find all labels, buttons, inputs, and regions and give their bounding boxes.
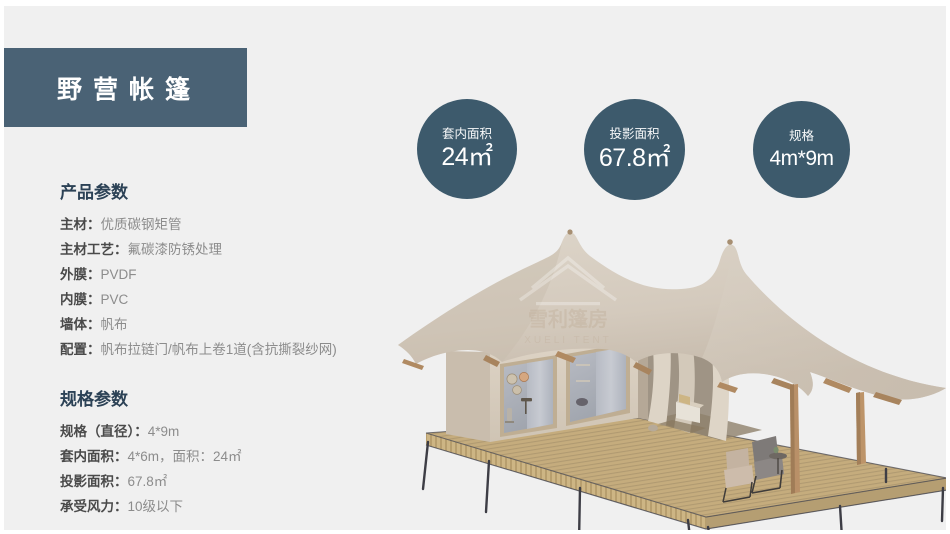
spec-row: 外膜：PVDF bbox=[60, 262, 337, 287]
spec-value: 帆布 bbox=[101, 317, 128, 332]
section-heading: 规格参数 bbox=[60, 385, 242, 410]
tent-product-image: 雪利篷房 XUELI TENT bbox=[390, 212, 946, 530]
spec-value: PVDF bbox=[101, 267, 137, 282]
spec-row: 内膜：PVC bbox=[60, 287, 337, 312]
spec-label: 墙体： bbox=[60, 317, 101, 332]
spec-row: 承受风力：10级以下 bbox=[60, 494, 242, 519]
badge-label: 套内面积 bbox=[442, 128, 492, 141]
canopy-shade-right bbox=[702, 246, 946, 400]
tent-illustration: 雪利篷房 XUELI TENT bbox=[390, 212, 946, 530]
spec-value: 4*6m，面积：24㎡ bbox=[128, 449, 242, 464]
badge-label: 规格 bbox=[789, 130, 814, 143]
spec-label: 承受风力： bbox=[60, 499, 128, 514]
spec-row: 主材工艺：氟碳漆防锈处理 bbox=[60, 237, 337, 262]
spec-label: 配置： bbox=[60, 342, 101, 357]
title-banner: 野营帐篷 bbox=[4, 48, 247, 127]
badge-value: 4m*9m bbox=[769, 148, 833, 169]
watermark-en: XUELI TENT bbox=[524, 335, 612, 346]
decor-stone bbox=[648, 425, 658, 432]
spec-row: 墙体：帆布 bbox=[60, 312, 337, 337]
canopy-peak-right bbox=[727, 239, 733, 245]
spec-row: 规格（直径）：4*9m bbox=[60, 419, 242, 444]
badge-value: 24㎡ bbox=[441, 145, 492, 170]
spec-value: PVC bbox=[101, 292, 129, 307]
slide-canvas: 野营帐篷 套内面积 24㎡ 投影面积 67.8㎡ 规格 4m*9m 产品参数 主… bbox=[4, 6, 946, 530]
spec-label: 投影面积： bbox=[60, 474, 128, 489]
spec-row: 套内面积：4*6m，面积：24㎡ bbox=[60, 444, 242, 469]
page-title: 野营帐篷 bbox=[46, 70, 201, 106]
spec-label: 主材： bbox=[60, 217, 101, 232]
spec-label: 外膜： bbox=[60, 267, 101, 282]
spec-value: 4*9m bbox=[148, 424, 180, 439]
spec-value: 67.8㎡ bbox=[128, 474, 168, 489]
spec-label: 主材工艺： bbox=[60, 242, 128, 257]
window-curtain-2 bbox=[596, 347, 626, 416]
spec-row: 投影面积：67.8㎡ bbox=[60, 469, 242, 494]
spec-label: 规格（直径）： bbox=[60, 424, 148, 439]
cabin-left-wall bbox=[446, 351, 490, 442]
spec-value: 优质碳钢矩管 bbox=[101, 217, 182, 232]
size-parameters-section: 规格参数 规格（直径）：4*9m 套内面积：4*6m，面积：24㎡ 投影面积：6… bbox=[60, 385, 242, 519]
spec-value: 帆布拉链门/帆布上卷1道(含抗撕裂纱网) bbox=[101, 342, 337, 357]
canopy-peak-left bbox=[567, 229, 572, 234]
badge-label: 投影面积 bbox=[609, 128, 659, 141]
spec-row: 配置：帆布拉链门/帆布上卷1道(含抗撕裂纱网) bbox=[60, 337, 337, 362]
window-curtain-1 bbox=[527, 359, 553, 429]
spec-value: 10级以下 bbox=[128, 499, 184, 514]
spec-label: 内膜： bbox=[60, 292, 101, 307]
product-parameters-section: 产品参数 主材：优质碳钢矩管 主材工艺：氟碳漆防锈处理 外膜：PVDF 内膜：P… bbox=[60, 178, 337, 362]
badge-value: 67.8㎡ bbox=[599, 146, 670, 171]
spec-row: 主材：优质碳钢矩管 bbox=[60, 212, 337, 237]
section-heading: 产品参数 bbox=[60, 178, 337, 203]
spec-label: 套内面积： bbox=[60, 449, 128, 464]
page-root: 野营帐篷 套内面积 24㎡ 投影面积 67.8㎡ 规格 4m*9m 产品参数 主… bbox=[0, 0, 950, 534]
spec-value: 氟碳漆防锈处理 bbox=[128, 242, 223, 257]
stat-badge-dimensions: 规格 4m*9m bbox=[753, 101, 850, 198]
watermark-cn: 雪利篷房 bbox=[528, 307, 608, 331]
stat-badge-interior-area: 套内面积 24㎡ bbox=[417, 99, 517, 199]
stat-badge-projected-area: 投影面积 67.8㎡ bbox=[584, 99, 685, 200]
